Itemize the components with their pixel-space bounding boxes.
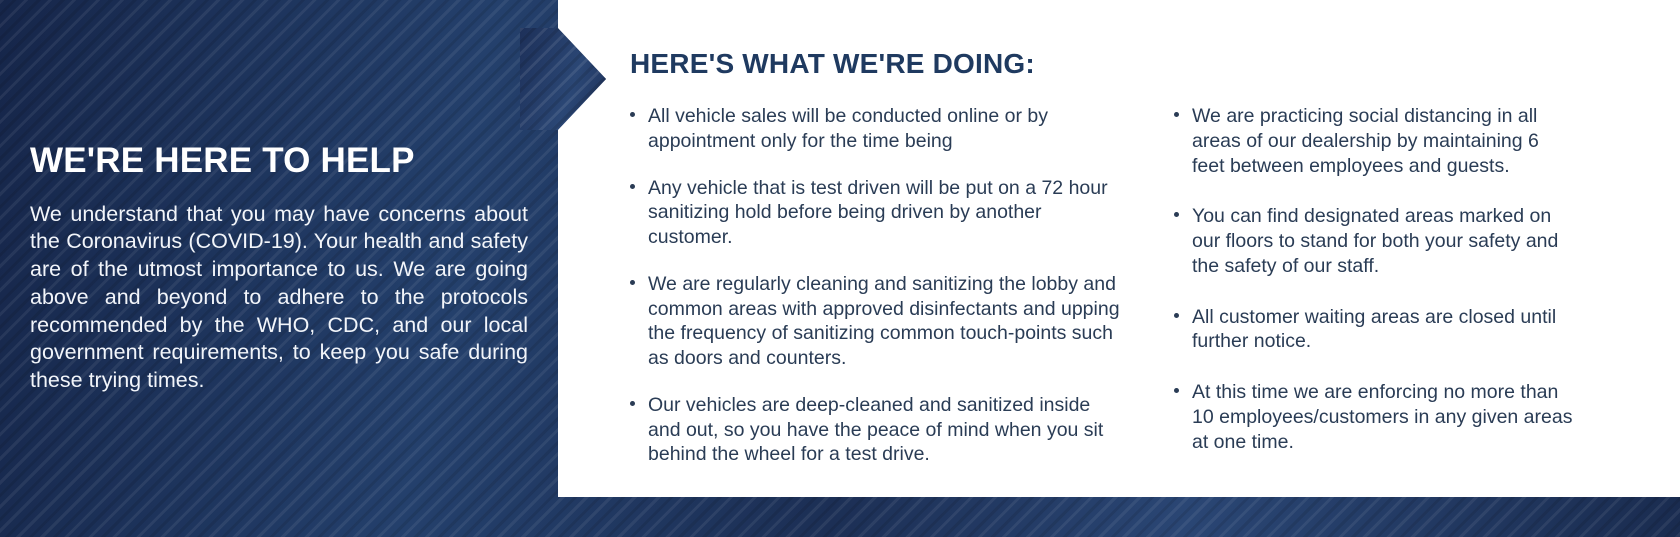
list-item: You can find designated areas marked on … [1174, 204, 1574, 278]
bullet-column-1: All vehicle sales will be conducted onli… [630, 104, 1122, 480]
covid-notice-banner: WE'RE HERE TO HELP We understand that yo… [0, 0, 1680, 537]
list-item: All vehicle sales will be conducted onli… [630, 104, 1122, 154]
measures-list-1: All vehicle sales will be conducted onli… [630, 104, 1122, 467]
list-item: We are practicing social distancing in a… [1174, 104, 1574, 178]
list-item: At this time we are enforcing no more th… [1174, 380, 1574, 454]
bullet-dot-icon [1174, 212, 1179, 217]
page-title: WE'RE HERE TO HELP [30, 142, 528, 181]
left-intro-panel: WE'RE HERE TO HELP We understand that yo… [0, 0, 558, 537]
section-title: HERE'S WHAT WE'RE DOING: [630, 48, 1620, 80]
intro-paragraph: We understand that you may have concerns… [30, 201, 528, 395]
bullet-dot-icon [1174, 313, 1179, 318]
bullet-dot-icon [630, 401, 635, 406]
bullet-dot-icon [630, 112, 635, 117]
list-item-text: At this time we are enforcing no more th… [1192, 381, 1572, 453]
bullet-dot-icon [1174, 112, 1179, 117]
list-item: Any vehicle that is test driven will be … [630, 176, 1122, 250]
list-item-text: Any vehicle that is test driven will be … [648, 177, 1108, 249]
measures-list-2: We are practicing social distancing in a… [1174, 104, 1574, 454]
bullet-columns: All vehicle sales will be conducted onli… [630, 104, 1620, 480]
list-item-text: All vehicle sales will be conducted onli… [648, 105, 1048, 152]
list-item-text: All customer waiting areas are closed un… [1192, 306, 1556, 353]
list-item-text: You can find designated areas marked on … [1192, 205, 1558, 277]
list-item-text: Our vehicles are deep-cleaned and saniti… [648, 394, 1103, 466]
list-item: We are regularly cleaning and sanitizing… [630, 272, 1122, 371]
list-item: Our vehicles are deep-cleaned and saniti… [630, 393, 1122, 467]
list-item-text: We are regularly cleaning and sanitizing… [648, 273, 1120, 369]
list-item-text: We are practicing social distancing in a… [1192, 105, 1539, 177]
bullet-dot-icon [1174, 388, 1179, 393]
bullet-dot-icon [630, 184, 635, 189]
bullet-dot-icon [630, 280, 635, 285]
list-item: All customer waiting areas are closed un… [1174, 305, 1574, 355]
measures-content: HERE'S WHAT WE'RE DOING: All vehicle sal… [558, 0, 1680, 497]
bullet-column-2: We are practicing social distancing in a… [1174, 104, 1574, 480]
